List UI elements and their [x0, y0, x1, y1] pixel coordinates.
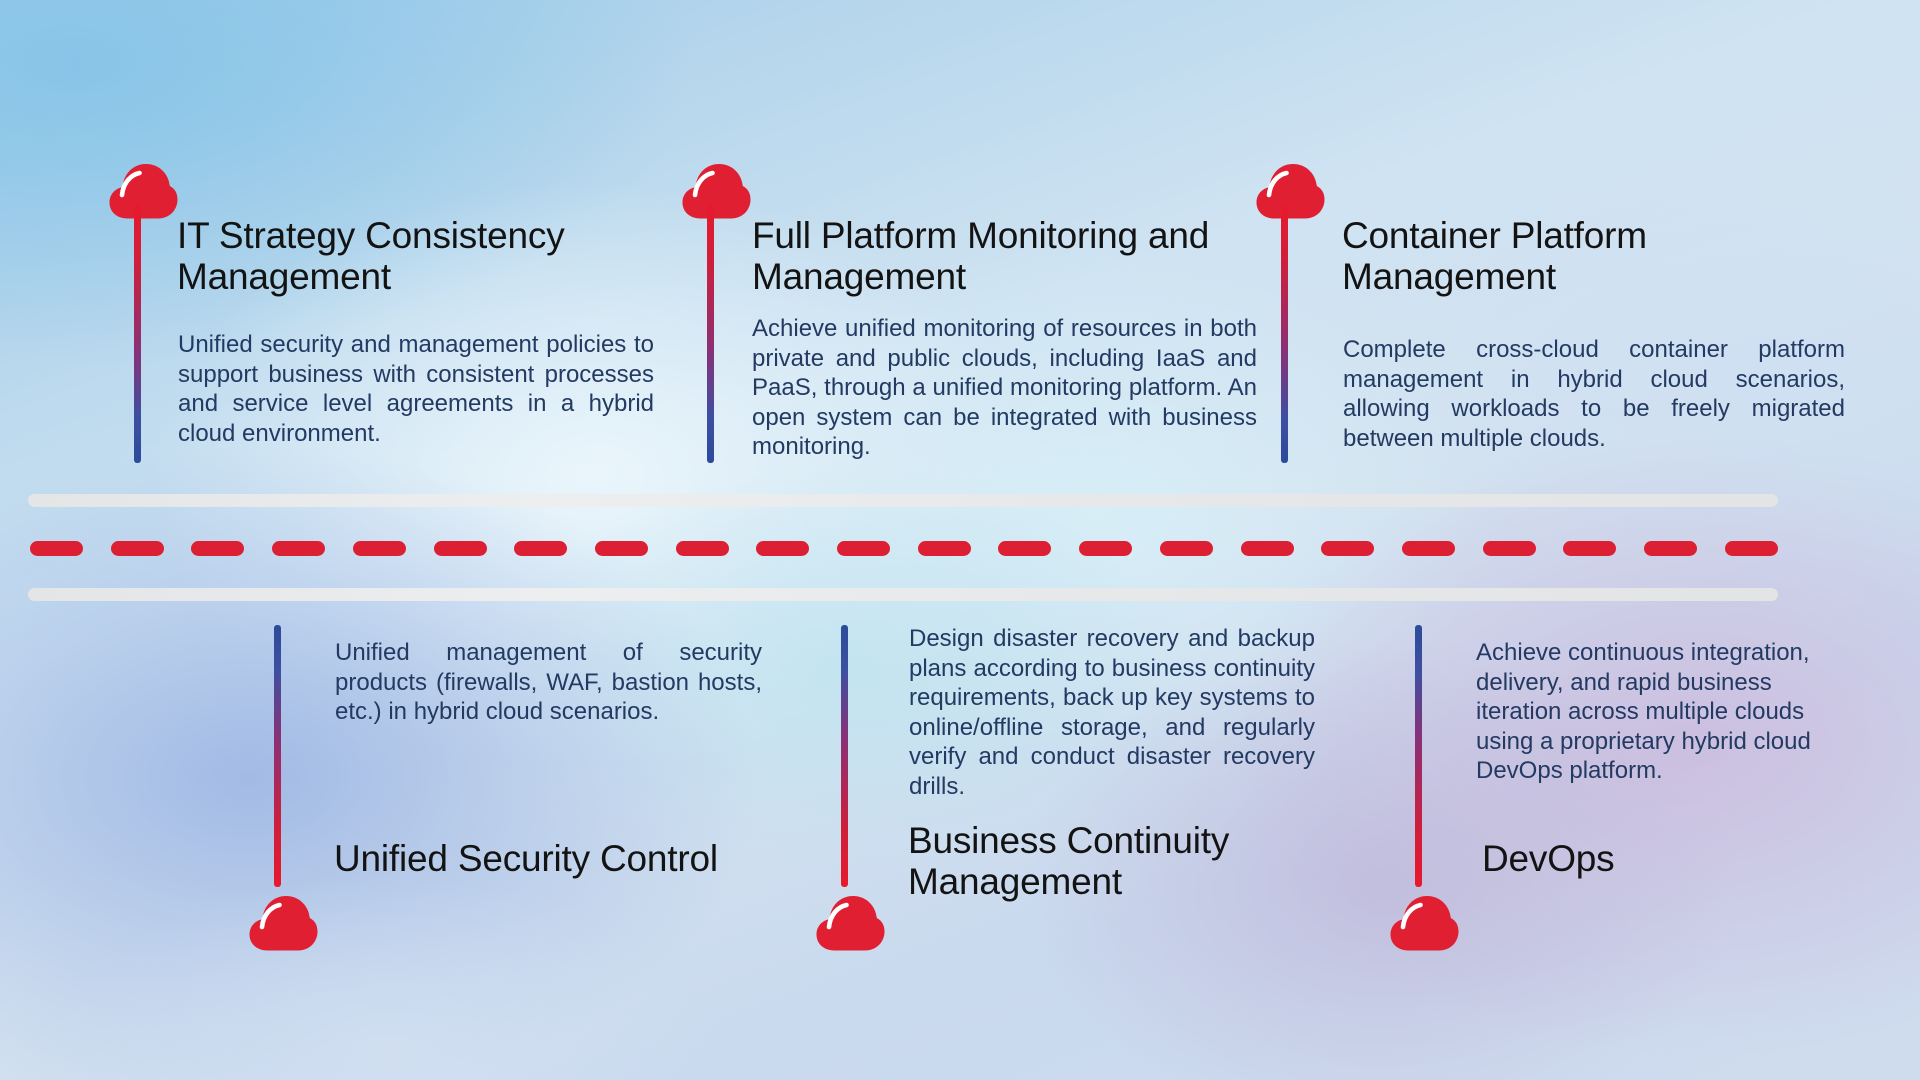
road-edge-line-bottom — [28, 588, 1778, 601]
road-dash — [837, 541, 890, 556]
road-dash — [998, 541, 1051, 556]
card-title-it-strategy: IT Strategy Consistency Management — [177, 215, 597, 298]
stem-full-platform-monitoring — [707, 205, 714, 463]
road-dash — [353, 541, 406, 556]
road-dash — [1563, 541, 1616, 556]
road-dash — [1160, 541, 1213, 556]
road-dash — [30, 541, 83, 556]
road-dash — [595, 541, 648, 556]
card-description-container-platform: Complete cross-cloud container platform … — [1343, 335, 1845, 453]
road-dash — [1644, 541, 1697, 556]
card-title-full-platform-monitoring: Full Platform Monitoring and Management — [752, 215, 1260, 298]
road-dash — [1079, 541, 1132, 556]
road-dash — [434, 541, 487, 556]
road-dash — [1241, 541, 1294, 556]
road-dash — [272, 541, 325, 556]
road-dash — [1725, 541, 1778, 556]
road-center-dashes — [30, 541, 1778, 556]
card-description-unified-security-control: Unified management of security products … — [335, 638, 762, 727]
card-description-it-strategy: Unified security and management policies… — [178, 330, 654, 448]
road-dash — [756, 541, 809, 556]
stem-devops — [1415, 625, 1422, 887]
stem-container-platform — [1281, 205, 1288, 463]
road-edge-line-top — [28, 494, 1778, 507]
stem-unified-security-control — [274, 625, 281, 887]
card-title-devops: DevOps — [1482, 838, 1782, 879]
stem-it-strategy — [134, 205, 141, 463]
road-dash — [918, 541, 971, 556]
road-dash — [111, 541, 164, 556]
road-dash — [514, 541, 567, 556]
card-description-devops: Achieve continuous integration, delivery… — [1476, 638, 1846, 786]
card-description-business-continuity: Design disaster recovery and backup plan… — [909, 624, 1315, 801]
card-title-unified-security-control: Unified Security Control — [334, 838, 804, 879]
card-title-container-platform: Container Platform Management — [1342, 215, 1742, 298]
road-dash — [1483, 541, 1536, 556]
road-dash — [676, 541, 729, 556]
infographic-stage: IT Strategy Consistency Management Unifi… — [0, 0, 1920, 1080]
card-title-business-continuity: Business Continuity Management — [908, 820, 1278, 903]
road-dash — [191, 541, 244, 556]
road-dash — [1321, 541, 1374, 556]
stem-business-continuity — [841, 625, 848, 887]
road-dash — [1402, 541, 1455, 556]
card-description-full-platform-monitoring: Achieve unified monitoring of resources … — [752, 314, 1257, 462]
